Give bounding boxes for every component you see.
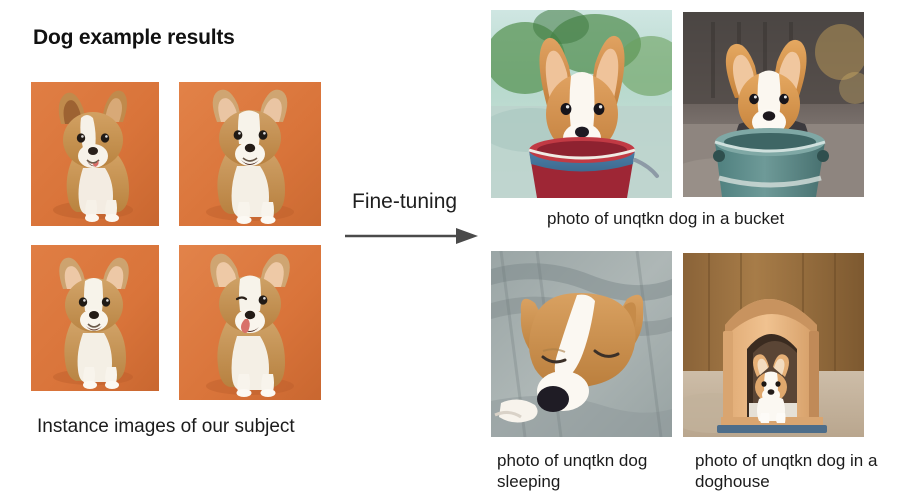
- corgi-photo-icon: [31, 245, 159, 391]
- generated-caption-sleeping: photo of unqtkn dog sleeping: [497, 450, 687, 492]
- instance-image-0[interactable]: [31, 82, 159, 226]
- corgi-in-bucket-photo-icon: [683, 12, 864, 197]
- corgi-photo-icon: [179, 82, 321, 226]
- generated-caption-doghouse: photo of unqtkn dog in a doghouse: [695, 450, 885, 492]
- generated-image-sleeping[interactable]: [491, 251, 672, 437]
- corgi-photo-icon: [179, 245, 321, 400]
- corgi-in-bucket-photo-icon: [491, 10, 672, 198]
- instance-image-1[interactable]: [179, 82, 321, 226]
- fine-tuning-label: Fine-tuning: [352, 190, 457, 214]
- generated-image-bucket-red[interactable]: [491, 10, 672, 198]
- generated-image-bucket-teal[interactable]: [683, 12, 864, 197]
- generated-image-doghouse[interactable]: [683, 253, 864, 437]
- instance-image-2[interactable]: [31, 245, 159, 391]
- corgi-photo-icon: [31, 82, 159, 226]
- page-title: Dog example results: [33, 26, 235, 50]
- instance-image-3[interactable]: [179, 245, 321, 400]
- corgi-sleeping-photo-icon: [491, 251, 672, 437]
- corgi-in-doghouse-photo-icon: [683, 253, 864, 437]
- instance-image-grid: [31, 82, 321, 400]
- instance-images-caption: Instance images of our subject: [37, 416, 295, 438]
- generated-caption-bucket: photo of unqtkn dog in a bucket: [547, 208, 784, 229]
- arrow-right-icon: [344, 225, 480, 247]
